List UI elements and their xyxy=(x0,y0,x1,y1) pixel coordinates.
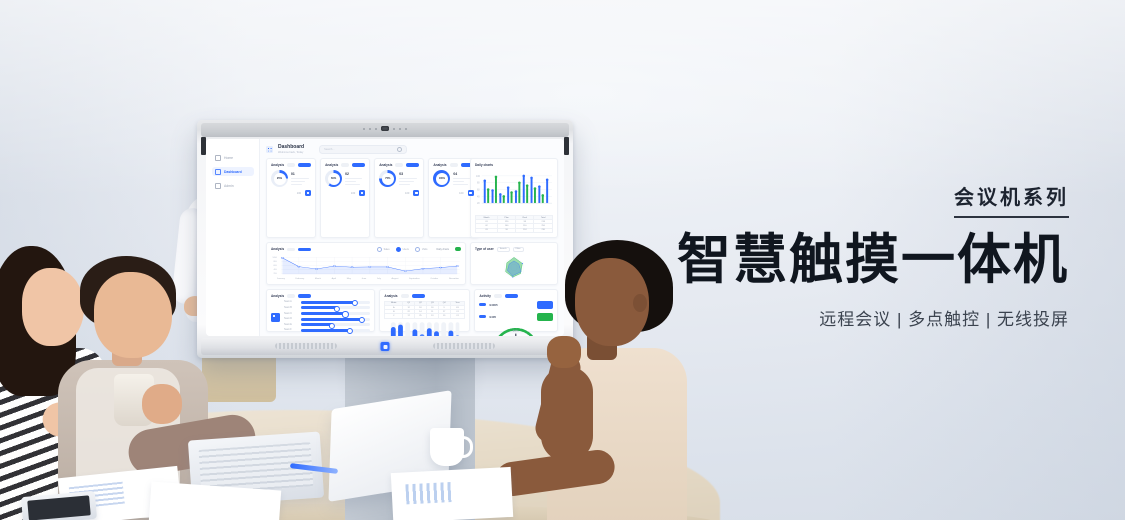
progress-fill xyxy=(301,301,355,304)
card-title: Analysis xyxy=(384,294,397,298)
subline-text: 远程会议 | 多点触控 | 无线投屏 xyxy=(677,305,1069,330)
progress-row[interactable]: Team F xyxy=(284,329,370,332)
kpi-text-lines: 03 xyxy=(399,172,419,185)
card-title: Analysis xyxy=(325,163,338,167)
donut-gauge: 25% xyxy=(271,170,288,187)
legend-marker-icon xyxy=(396,247,401,252)
progress-row[interactable]: Team E xyxy=(284,323,370,326)
kpi-body: 100% 04 xyxy=(433,170,473,187)
legend-label: Users xyxy=(403,248,409,251)
kpi-action-icon[interactable] xyxy=(413,190,419,196)
svg-text:40: 40 xyxy=(274,269,278,270)
progress-fill xyxy=(301,323,332,326)
text-line xyxy=(345,181,356,182)
speaker-grille-right xyxy=(433,343,495,349)
text-line xyxy=(453,178,470,179)
camera-lens-icon xyxy=(381,126,389,131)
donut-value: 60% xyxy=(328,173,340,185)
attendee-man-head xyxy=(94,272,172,358)
progress-label: Team F xyxy=(284,329,298,331)
smartphone xyxy=(21,491,97,520)
progress-fill xyxy=(301,312,345,315)
card-badge xyxy=(494,294,502,297)
progress-label: Team D xyxy=(284,318,298,320)
progress-label: Team A xyxy=(284,301,298,303)
kpi-code: 01 xyxy=(291,172,311,176)
dashboard-grid-icon xyxy=(266,146,273,153)
x-tick-label: July xyxy=(377,278,381,280)
progress-track[interactable] xyxy=(301,318,370,321)
card-action-button[interactable] xyxy=(352,163,365,166)
x-tick-label: February xyxy=(295,278,304,280)
progress-knob[interactable] xyxy=(346,328,352,334)
table-row: 03 96 134 230 xyxy=(476,228,553,232)
x-tick-label: June xyxy=(362,278,367,280)
legend-marker-icon xyxy=(377,247,382,252)
search-icon xyxy=(397,147,402,152)
svg-text:40: 40 xyxy=(477,195,480,198)
card-title: Daily charts xyxy=(475,163,553,167)
line-chart-xaxis: January February March April May June Ju… xyxy=(271,277,461,280)
kpi-body: 75% 03 xyxy=(379,170,419,187)
text-line xyxy=(453,181,464,182)
progress-track[interactable] xyxy=(301,301,370,304)
line-chart-svg: 1008060 4020 xyxy=(271,255,461,277)
table-cell: 03 xyxy=(476,228,498,232)
progress-row[interactable]: Team A xyxy=(284,301,370,304)
donut-value: 75% xyxy=(382,173,394,185)
kpi-card[interactable]: Analysis 75% 03 xyxy=(374,158,424,238)
table-cell: 74 xyxy=(450,314,465,318)
table-cell: 25 xyxy=(415,314,427,318)
table-cell: 96 xyxy=(498,228,516,232)
x-tick-label: November xyxy=(449,278,459,280)
kpi-value: 100 xyxy=(405,192,409,195)
x-tick-label: May xyxy=(347,278,351,280)
search-input[interactable]: Search... xyxy=(319,145,407,154)
dashboard-header: Dashboard Welcome back, Today Search... xyxy=(266,145,558,154)
table-cell: C xyxy=(385,314,403,318)
legend-marker-icon xyxy=(415,247,420,252)
gauge-value: 50% xyxy=(513,328,519,332)
card-badge xyxy=(287,294,295,297)
kpi-action-icon[interactable] xyxy=(359,190,365,196)
progress-list: Team A Team B xyxy=(284,301,370,335)
svg-text:20: 20 xyxy=(274,273,278,274)
sidebar-item-admin[interactable]: Admin xyxy=(212,181,254,190)
card-action-button[interactable] xyxy=(298,294,311,297)
activity-marker-icon xyxy=(479,303,486,306)
hero-banner: Home Dashboard Admin xyxy=(0,0,1125,520)
dashboard-main: Dashboard Welcome back, Today Search... xyxy=(260,139,564,336)
donut-value: 100% xyxy=(436,173,448,185)
progress-fill xyxy=(301,318,362,321)
line-chart-card[interactable]: Analysis Sales Users Visits Daily charts xyxy=(266,242,466,285)
progress-row[interactable]: Team D xyxy=(284,318,370,321)
donut-value: 25% xyxy=(274,173,286,185)
panel-corner-right xyxy=(564,137,569,155)
legend-label: Sales xyxy=(384,248,390,251)
kpi-card-group: Analysis 25% 01 xyxy=(266,158,466,238)
line-chart-plot: 1008060 4020 xyxy=(271,255,461,277)
progress-label: Team B xyxy=(284,307,298,309)
card-title: Analysis xyxy=(379,163,392,167)
camera-module xyxy=(363,126,407,131)
table-cell: 230 xyxy=(534,228,553,232)
card-action-button[interactable] xyxy=(505,294,518,297)
svg-text:80: 80 xyxy=(274,261,278,262)
bars-chart-svg xyxy=(384,321,465,336)
text-line xyxy=(399,184,410,185)
sidebar-item-label: Home xyxy=(224,156,233,160)
card-header: Analysis xyxy=(271,163,311,167)
speaker-grille-left xyxy=(275,343,337,349)
card-action-button[interactable] xyxy=(412,294,425,297)
x-tick-label: March xyxy=(315,278,321,280)
sidebar-item-home[interactable]: Home xyxy=(212,153,254,162)
user-icon xyxy=(215,183,221,189)
attendee-right-ear xyxy=(633,294,647,312)
radar-chip[interactable]: Filter xyxy=(513,247,524,252)
mic-dot-icon xyxy=(369,128,371,130)
progress-row[interactable]: Team C xyxy=(284,312,370,315)
kpi-body: 25% 01 xyxy=(271,170,311,187)
progress-row[interactable]: Team B xyxy=(284,306,370,309)
mic-dot-icon xyxy=(399,128,401,130)
progress-track[interactable] xyxy=(301,323,370,326)
svg-text:60: 60 xyxy=(477,189,480,192)
page-title: Dashboard xyxy=(278,144,304,150)
attendee-woman-right xyxy=(525,240,700,520)
card-header: Analysis xyxy=(384,294,465,298)
card-title: Analysis xyxy=(433,163,446,167)
home-icon xyxy=(215,155,221,161)
kpi-card[interactable]: Analysis 60% 02 xyxy=(320,158,370,238)
card-header: Analysis xyxy=(379,163,419,167)
kpi-text-lines: 02 xyxy=(345,172,365,185)
table-cell: 13 xyxy=(426,314,438,318)
bars-table: Metric Q1 Q2 Q3 Q4 Year A 12 xyxy=(384,301,465,319)
card-action-button[interactable] xyxy=(298,163,311,166)
progress-label: Team E xyxy=(284,324,298,326)
svg-text:100: 100 xyxy=(476,175,481,178)
card-title: Type of user xyxy=(475,247,494,251)
table-cell: 19 xyxy=(438,314,450,318)
card-action-button[interactable] xyxy=(406,163,419,166)
card-badge xyxy=(401,294,409,297)
card-title: Analysis xyxy=(271,163,284,167)
kpi-value: 100 xyxy=(459,192,463,195)
text-line xyxy=(345,178,362,179)
text-line xyxy=(291,184,302,185)
daily-charts-card[interactable]: Daily charts 1008060 4020 xyxy=(470,158,558,238)
x-tick-label: August xyxy=(392,278,399,280)
progress-action-icon[interactable] xyxy=(271,313,280,322)
daily-charts-toggle-label: Daily charts xyxy=(437,248,450,251)
x-tick-label: October xyxy=(430,278,438,280)
progress-label: Team C xyxy=(284,313,298,315)
table-row: C 17 25 13 19 74 xyxy=(385,314,465,318)
headline-text: 智慧触摸一体机 xyxy=(677,232,1069,289)
svg-text:20: 20 xyxy=(477,202,480,205)
attendee-right-fist xyxy=(547,336,581,368)
legend-item[interactable]: Users xyxy=(396,247,409,252)
page-title-block: Dashboard Welcome back, Today xyxy=(278,145,304,154)
kpi-value: 100 xyxy=(297,192,301,195)
kpi-footer: 100 xyxy=(379,190,419,196)
kpi-text-lines: 01 xyxy=(291,172,311,185)
page-subtitle: Welcome back, Today xyxy=(278,151,303,154)
progress-fill xyxy=(301,329,350,332)
kpi-footer: 100 xyxy=(433,190,473,196)
kpi-footer: 100 xyxy=(325,190,365,196)
eyebrow-text: 会议机系列 xyxy=(954,186,1069,218)
daily-bar-chart: 1008060 4020 xyxy=(475,169,553,213)
card-title: Activity xyxy=(479,294,491,298)
svg-text:60: 60 xyxy=(274,265,278,266)
card-badge xyxy=(450,163,458,166)
progress-card[interactable]: Analysis Team A xyxy=(266,289,375,332)
kpi-body: 60% 02 xyxy=(325,170,365,187)
card-action-button[interactable] xyxy=(298,248,311,251)
text-line xyxy=(399,178,417,179)
progress-track[interactable] xyxy=(301,312,370,315)
x-tick-label: January xyxy=(277,278,285,280)
search-placeholder: Search... xyxy=(324,148,334,151)
legend-label: Visits xyxy=(422,248,428,251)
text-line xyxy=(291,178,309,179)
card-badge xyxy=(287,163,295,166)
eyebrow-wrap: 会议机系列 xyxy=(677,186,1069,218)
card-header: Analysis Sales Users Visits Daily charts xyxy=(271,247,461,252)
chart-legend: Sales Users Visits Daily charts xyxy=(377,247,461,252)
attendee-man-hand xyxy=(142,384,182,424)
kpi-code: 03 xyxy=(399,172,419,176)
card-header: Analysis xyxy=(433,163,473,167)
text-line xyxy=(345,184,359,185)
card-badge xyxy=(287,248,295,251)
brand-logo-icon xyxy=(381,342,390,351)
bars-card[interactable]: Analysis Metric Q1 Q2 Q3 Q4 xyxy=(379,289,470,332)
mic-dot-icon xyxy=(393,128,395,130)
text-line xyxy=(291,181,305,182)
grid-icon xyxy=(215,169,221,175)
bottom-row: Analysis Team A xyxy=(266,289,558,332)
card-header: Analysis xyxy=(325,163,365,167)
legend-item[interactable]: Visits xyxy=(415,247,428,252)
sidebar-item-label: Dashboard xyxy=(224,170,242,174)
table-cell: 134 xyxy=(516,228,534,232)
card-title: Analysis xyxy=(271,247,284,251)
progress-track[interactable] xyxy=(301,306,370,309)
donut-gauge: 60% xyxy=(325,170,342,187)
sidebar-item-label: Admin xyxy=(224,184,234,188)
text-line xyxy=(453,184,467,185)
kpi-code: 02 xyxy=(345,172,365,176)
mic-dot-icon xyxy=(363,128,365,130)
mic-dot-icon xyxy=(405,128,407,130)
document-sheet xyxy=(391,467,513,520)
coffee-mug-table xyxy=(430,428,464,466)
progress-body: Team A Team B xyxy=(271,301,370,335)
progress-track[interactable] xyxy=(301,329,370,332)
card-badge xyxy=(341,163,349,166)
kpi-card[interactable]: Analysis 25% 01 xyxy=(266,158,316,238)
kpi-action-icon[interactable] xyxy=(305,190,311,196)
marketing-copy: 会议机系列 智慧触摸一体机 远程会议 | 多点触控 | 无线投屏 xyxy=(677,186,1069,330)
svg-text:100: 100 xyxy=(272,257,278,258)
daily-charts-table: Month Plan Real Total 01 120 98 218 xyxy=(475,215,553,233)
x-tick-label: September xyxy=(409,278,420,280)
mic-dot-icon xyxy=(375,128,377,130)
table-cell: 17 xyxy=(403,314,415,318)
daily-charts-toggle[interactable] xyxy=(455,247,461,251)
kpi-row: Analysis 25% 01 xyxy=(266,158,558,238)
progress-fill xyxy=(301,306,337,309)
activity-marker-icon xyxy=(479,315,486,318)
kpi-value: 100 xyxy=(351,192,355,195)
kpi-footer: 100 xyxy=(271,190,311,196)
donut-gauge: 100% xyxy=(433,170,450,187)
legend-item[interactable]: Sales xyxy=(377,247,390,252)
radar-chip[interactable]: Search xyxy=(497,247,510,252)
x-tick-label: April xyxy=(332,278,336,280)
donut-gauge: 75% xyxy=(379,170,396,187)
text-line xyxy=(399,181,413,182)
line-and-radar-row: Analysis Sales Users Visits Daily charts xyxy=(266,242,558,285)
card-header: Analysis xyxy=(271,294,370,298)
kpi-action-icon[interactable] xyxy=(468,190,474,196)
card-title: Analysis xyxy=(271,294,284,298)
sidebar-item-dashboard[interactable]: Dashboard xyxy=(212,167,254,176)
svg-text:80: 80 xyxy=(477,182,480,185)
card-badge xyxy=(395,163,403,166)
